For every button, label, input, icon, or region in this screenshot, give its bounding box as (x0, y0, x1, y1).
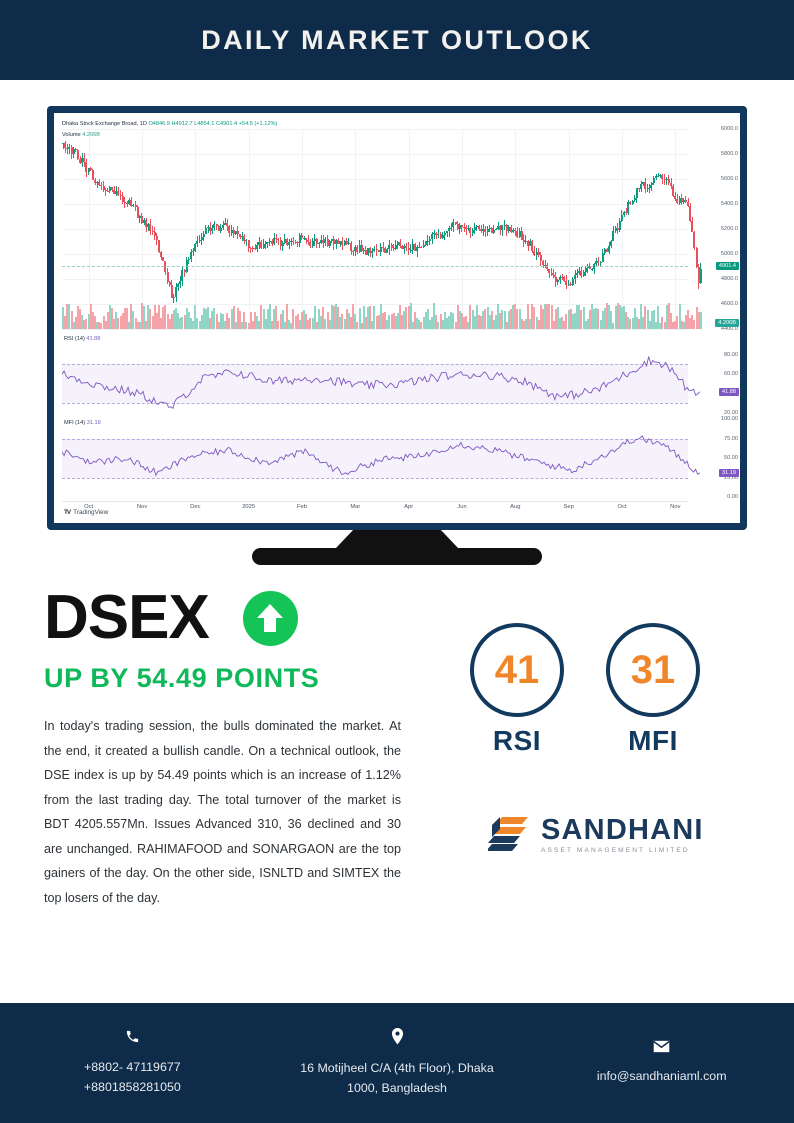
right-column: 41 RSI 31 MFI (470, 623, 750, 857)
chart-header-legend: Dhaka Stock Exchange Broad, 1D O4846.9 H… (62, 119, 277, 140)
price-axis-tick: 5400.0 (721, 201, 738, 207)
time-gridline (249, 129, 250, 329)
time-axis-tick: Dec (190, 504, 200, 510)
market-summary-paragraph: In today's trading session, the bulls do… (44, 714, 401, 910)
location-pin-icon (265, 1028, 530, 1051)
gauge-rsi-circle: 41 (470, 623, 564, 717)
time-gridline (302, 129, 303, 329)
time-axis-tick: Aug (510, 504, 520, 510)
volume-badge: 4.206B (715, 319, 739, 327)
rsi-pane-label: RSI (14) 41.88 (64, 336, 100, 342)
envelope-icon (529, 1040, 794, 1059)
candle-wick (568, 280, 569, 287)
page-title: DAILY MARKET OUTLOOK (201, 25, 593, 56)
price-gridline (62, 204, 688, 205)
time-gridline (89, 129, 90, 329)
last-price-badge: 4901.4 (716, 262, 739, 270)
left-column: DSEX UP BY 54.49 POINTS In today's tradi… (44, 587, 401, 910)
footer-address-line2: 1000, Bangladesh (265, 1079, 530, 1098)
chart-change-value: +54.5 (+1.12%) (239, 121, 278, 127)
candlestick (203, 234, 205, 238)
gauge-mfi-circle: 31 (606, 623, 700, 717)
oscillator-line (62, 419, 702, 497)
rsi-current-value: 41.88 (86, 336, 100, 342)
time-gridline (622, 129, 623, 329)
volume-label: Volume (62, 132, 81, 138)
time-axis[interactable]: OctNovDec2025FebMarAprJunAugSepOctNov (62, 501, 688, 513)
chart-open-value: O4846.9 (148, 121, 169, 127)
time-axis-tick: Nov (137, 504, 147, 510)
price-gridline (62, 279, 688, 280)
footer-phone-line1: +8802- 47119677 (0, 1058, 265, 1077)
price-axis-tick: 4600.0 (721, 301, 738, 307)
monitor-neck (336, 530, 458, 548)
time-axis-tick: Oct (617, 504, 626, 510)
mfi-axis-tick: 0.00 (727, 494, 738, 500)
candlestick (619, 221, 621, 230)
tradingview-attribution: TV TradingView (64, 509, 108, 516)
company-tagline: ASSET MANAGEMENT LIMITED (541, 848, 704, 855)
price-axis-tick: 4800.0 (721, 276, 738, 282)
price-gridline (62, 154, 688, 155)
arrow-up-icon (243, 591, 298, 646)
mfi-axis-tick: 100.00 (721, 416, 738, 422)
time-axis-tick: Mar (350, 504, 360, 510)
footer-address-line1: 16 Motijheel C/A (4th Floor), Dhaka (265, 1059, 530, 1078)
mfi-title: MFI (14) (64, 420, 85, 426)
footer-email-address: info@sandhaniaml.com (529, 1067, 794, 1086)
page-footer: +8802- 47119677 +8801858281050 16 Motijh… (0, 1003, 794, 1123)
price-axis-tick: 6000.0 (721, 126, 738, 132)
time-gridline (142, 129, 143, 329)
price-gridline (62, 329, 688, 330)
phone-icon (0, 1029, 265, 1050)
oscillator-line (62, 335, 702, 413)
company-name: SANDHANI (541, 816, 704, 845)
price-gridline (62, 179, 688, 180)
price-axis-tick: 5600.0 (721, 176, 738, 182)
volume-value: 4.206B (82, 132, 100, 138)
tradingview-logo-icon: TV (64, 509, 70, 516)
price-gridline (62, 254, 688, 255)
rsi-pane[interactable]: RSI (14) 41.88 (62, 335, 688, 413)
chart-close-value: C4901.4 (216, 121, 237, 127)
candlestick (610, 241, 612, 246)
footer-address: 16 Motijheel C/A (4th Floor), Dhaka 1000… (265, 1028, 530, 1098)
price-axis[interactable]: 6000.05800.05600.05400.05200.05000.04800… (688, 129, 740, 523)
gauge-rsi: 41 RSI (470, 623, 564, 757)
content-area: DSEX UP BY 54.49 POINTS In today's tradi… (0, 587, 794, 910)
rsi-value-badge: 41.88 (719, 388, 739, 396)
price-axis-tick: 5200.0 (721, 226, 738, 232)
time-gridline (675, 129, 676, 329)
monitor-illustration: Dhaka Stock Exchange Broad, 1D O4846.9 H… (47, 106, 747, 565)
mfi-value-badge: 31.19 (719, 469, 739, 477)
chart-high-value: H4912.7 (171, 121, 192, 127)
company-logo: SANDHANI ASSET MANAGEMENT LIMITED (470, 813, 750, 857)
footer-email: info@sandhaniaml.com (529, 1040, 794, 1086)
time-gridline (355, 129, 356, 329)
time-axis-tick: Jun (457, 504, 466, 510)
gauge-mfi: 31 MFI (606, 623, 700, 757)
monitor-base (252, 548, 542, 565)
rsi-title: RSI (14) (64, 336, 85, 342)
footer-phone-line2: +8801858281050 (0, 1078, 265, 1097)
change-summary: UP BY 54.49 POINTS (44, 663, 401, 694)
tradingview-label: TradingView (73, 509, 108, 516)
rsi-axis-tick: 80.00 (724, 352, 738, 358)
index-headline-row: DSEX (44, 587, 401, 649)
time-gridline (409, 129, 410, 329)
gauge-rsi-value: 41 (495, 648, 540, 693)
price-axis-tick: 5800.0 (721, 151, 738, 157)
last-price-line (62, 266, 688, 267)
chart-symbol-label: Dhaka Stock Exchange Broad, 1D (62, 121, 147, 127)
time-gridline (569, 129, 570, 329)
chart-low-value: L4854.1 (194, 121, 214, 127)
monitor-bezel: Dhaka Stock Exchange Broad, 1D O4846.9 H… (47, 106, 747, 530)
chart-screen[interactable]: Dhaka Stock Exchange Broad, 1D O4846.9 H… (54, 113, 740, 523)
indicator-gauges: 41 RSI 31 MFI (470, 623, 750, 757)
mfi-current-value: 31.19 (87, 420, 101, 426)
page-header: DAILY MARKET OUTLOOK (0, 0, 794, 80)
candlestick (222, 225, 224, 228)
gauge-mfi-label: MFI (606, 725, 700, 757)
price-axis-tick: 5000.0 (721, 251, 738, 257)
price-gridline (62, 304, 688, 305)
rsi-axis-tick: 60.00 (724, 371, 738, 377)
gauge-rsi-label: RSI (470, 725, 564, 757)
mfi-axis-tick: 50.00 (724, 455, 738, 461)
candlestick (600, 262, 602, 263)
time-axis-tick: Feb (297, 504, 307, 510)
time-axis-tick: Nov (670, 504, 680, 510)
sandhani-logo-icon (488, 813, 532, 857)
time-axis-tick: Apr (404, 504, 413, 510)
price-pane[interactable] (62, 129, 688, 329)
time-axis-tick: Sep (563, 504, 573, 510)
sandhani-logo-text: SANDHANI ASSET MANAGEMENT LIMITED (541, 816, 704, 855)
gauge-mfi-value: 31 (631, 648, 676, 693)
mfi-pane-label: MFI (14) 31.19 (64, 420, 101, 426)
time-gridline (195, 129, 196, 329)
index-name: DSEX (44, 587, 209, 649)
price-gridline (62, 229, 688, 230)
mfi-axis-tick: 75.00 (724, 436, 738, 442)
footer-phone: +8802- 47119677 +8801858281050 (0, 1029, 265, 1097)
time-axis-tick: 2025 (242, 504, 255, 510)
candlestick (495, 229, 497, 230)
mfi-pane[interactable]: MFI (14) 31.19 (62, 419, 688, 497)
